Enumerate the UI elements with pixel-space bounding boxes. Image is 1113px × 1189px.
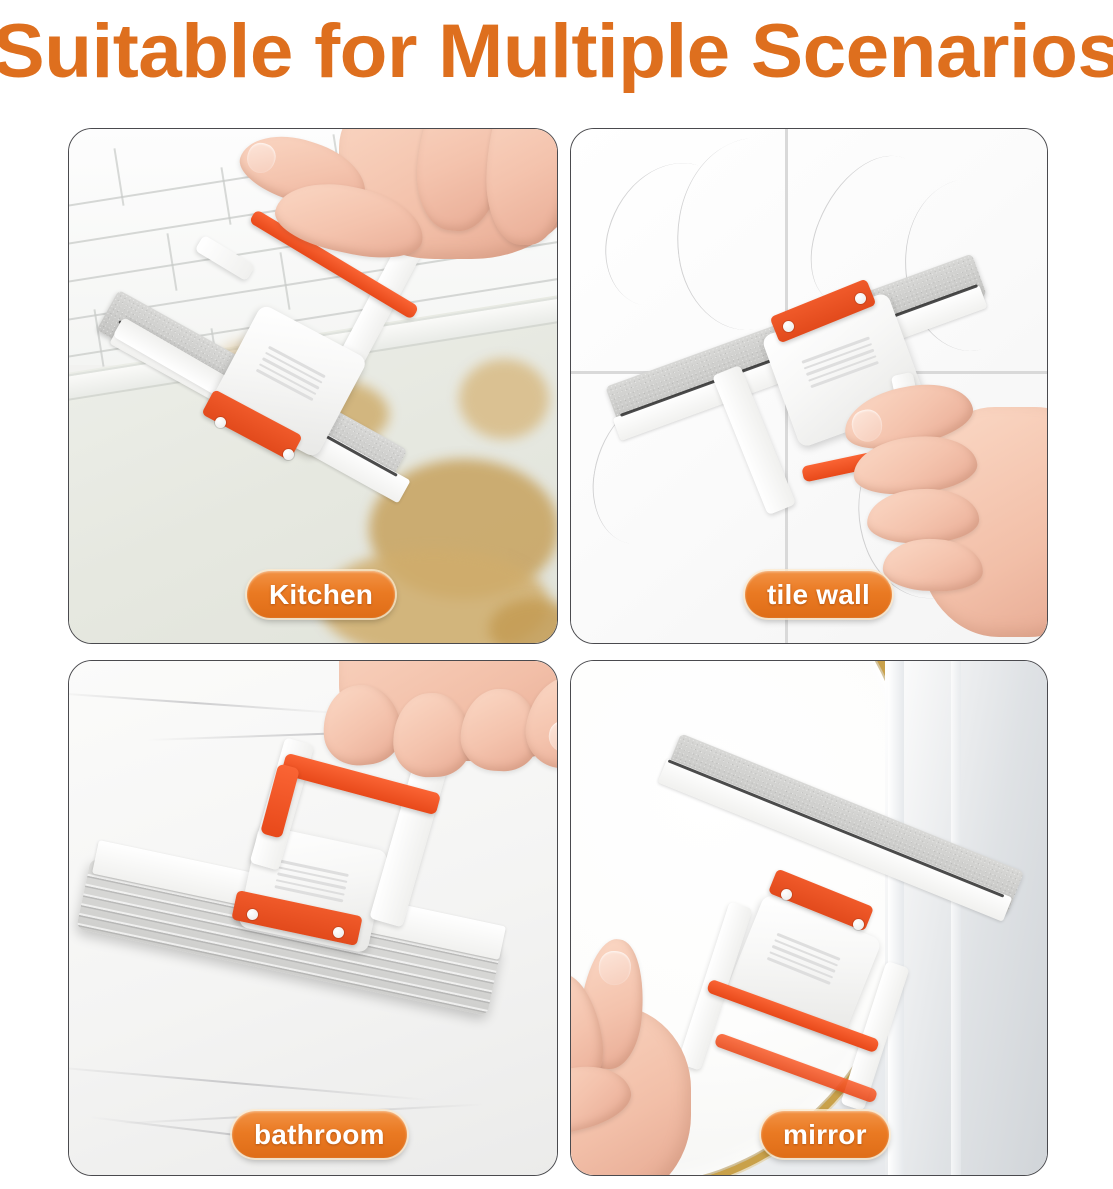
panel-kitchen[interactable]: Kitchen: [68, 128, 558, 644]
page-title: Suitable for Multiple Scenarios: [0, 6, 1113, 98]
hinge-rivet: [783, 321, 794, 332]
panel-bathroom[interactable]: bathroom: [68, 660, 558, 1176]
panel-tile-wall[interactable]: tile wall: [570, 128, 1048, 644]
hinge-rivet: [215, 417, 226, 428]
squeegee-body-ribs: [256, 346, 326, 401]
hand-bathroom: [299, 661, 557, 851]
badge-tile-wall[interactable]: tile wall: [745, 571, 892, 618]
hinge-rivet: [283, 449, 294, 460]
hinge-rivet: [247, 909, 258, 920]
infographic-page: Suitable for Multiple Scenarios: [0, 0, 1113, 1189]
squeegee-body-ribs: [274, 860, 348, 902]
mirror-scene: [571, 661, 1047, 1175]
hinge-rivet: [855, 293, 866, 304]
kitchen-scene: [69, 129, 557, 643]
tile-wall-scene: [571, 129, 1047, 643]
fingernail: [849, 407, 885, 445]
badge-mirror[interactable]: mirror: [761, 1111, 889, 1158]
fingernail: [243, 140, 279, 177]
hand-mirror: [571, 929, 751, 1175]
hinge-rivet: [781, 889, 792, 900]
badge-kitchen[interactable]: Kitchen: [247, 571, 395, 618]
bathroom-scene: [69, 661, 557, 1175]
fingernail: [597, 950, 632, 987]
hinge-rivet: [853, 919, 864, 930]
hinge-rivet: [333, 927, 344, 938]
fingernail: [547, 718, 557, 755]
squeegee-body-ribs: [767, 933, 841, 985]
panel-mirror[interactable]: mirror: [570, 660, 1048, 1176]
hand-kitchen: [219, 129, 557, 339]
squeegee-blade-edge: [668, 759, 1005, 897]
badge-bathroom[interactable]: bathroom: [232, 1111, 407, 1158]
